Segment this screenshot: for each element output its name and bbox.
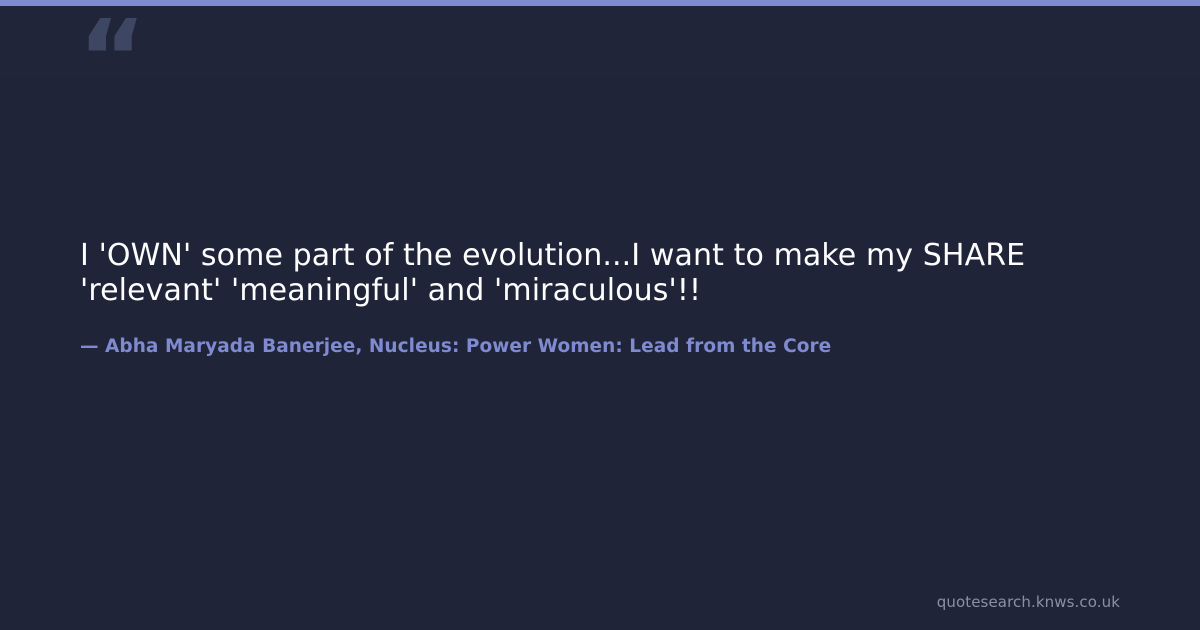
source-url-label: quotesearch.knws.co.uk <box>937 592 1120 612</box>
top-accent-bar <box>0 0 1200 6</box>
quote-text: I 'OWN' some part of the evolution...I w… <box>80 238 1120 308</box>
background-tone-band <box>0 6 1200 78</box>
quote-attribution: — Abha Maryada Banerjee, Nucleus: Power … <box>80 308 1120 359</box>
quote-card: “ I 'OWN' some part of the evolution...I… <box>0 0 1200 630</box>
quote-content: I 'OWN' some part of the evolution...I w… <box>80 238 1120 359</box>
quotation-mark-icon: “ <box>78 6 144 110</box>
